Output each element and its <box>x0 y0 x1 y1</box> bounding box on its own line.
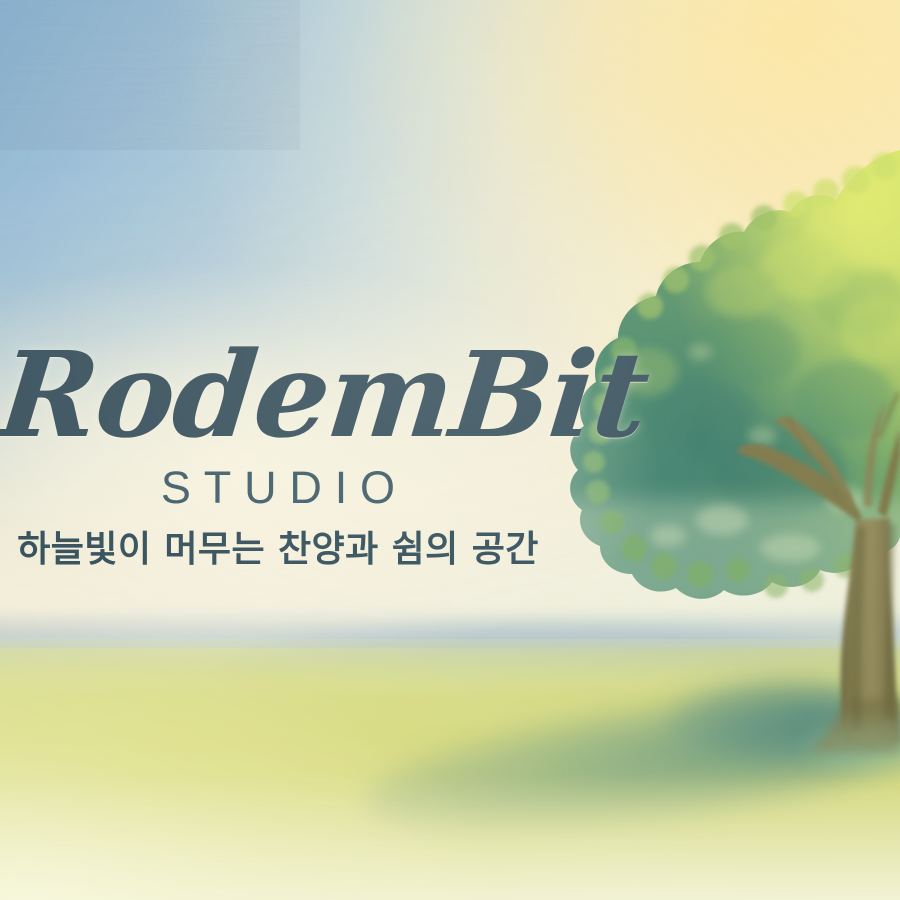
paper-texture <box>0 0 300 150</box>
page-title: RodemBit <box>0 336 562 454</box>
brand-lockup: RodemBit STUDIO 하늘빛이 머무는 찬양과 쉼의 공간 <box>0 336 556 568</box>
brand-tagline: 하늘빛이 머무는 찬양과 쉼의 공간 <box>0 532 556 568</box>
brand-subtitle: STUDIO <box>0 465 556 510</box>
bottom-fade <box>0 774 900 900</box>
channel-banner: RodemBit STUDIO 하늘빛이 머무는 찬양과 쉼의 공간 <box>0 0 900 900</box>
